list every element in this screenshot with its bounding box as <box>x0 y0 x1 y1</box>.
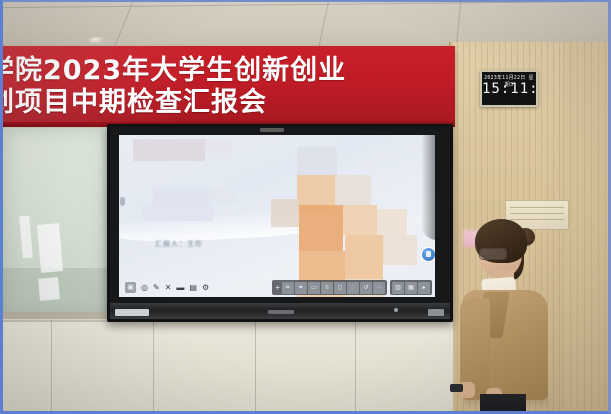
mosaic-block <box>271 199 299 227</box>
classroom-photo: 学院2023年大学生创新创业 划项目中期检查汇报会 汇报人：王珍 ▣ ◎ ✎ ✕… <box>0 0 611 414</box>
mosaic-block <box>153 187 209 205</box>
close-icon[interactable]: ✕ <box>165 284 172 292</box>
bezel-label <box>115 309 149 316</box>
power-led-icon <box>394 308 398 312</box>
screen-glare-corner <box>421 135 435 240</box>
mosaic-block <box>345 235 383 279</box>
bezel-right-label <box>428 309 444 316</box>
brush-icon[interactable]: ✏ <box>282 282 294 294</box>
banner-line-2: 划项目中期检查汇报会 <box>0 80 267 119</box>
skirt <box>480 394 526 414</box>
undo-icon[interactable]: ↺ <box>360 282 372 294</box>
slide-toolbar-right[interactable]: + ✏ ✒ ▭ ≡ ◻ ◌ ↺ ⋯ ▥ ▦ ▸ <box>272 280 432 295</box>
mosaic-block <box>299 205 343 251</box>
mosaic-block <box>143 205 213 221</box>
eraser-icon[interactable]: ▬ <box>176 284 184 292</box>
select-icon[interactable]: ◌ <box>347 282 359 294</box>
more-icon[interactable]: ▸ <box>418 282 430 294</box>
ceiling-seam <box>3 1 608 8</box>
ceiling-seam <box>318 2 329 48</box>
slide-toolbar-left[interactable]: ▣ ◎ ✎ ✕ ▬ ▤ ⚙ <box>122 281 212 294</box>
smartboard-top-label <box>260 128 284 132</box>
tile-seam <box>255 320 256 414</box>
ceiling-seam <box>114 2 134 48</box>
record-icon[interactable]: ◎ <box>141 284 148 292</box>
settings-icon[interactable]: ⚙ <box>202 284 209 292</box>
glasses-icon <box>479 248 507 260</box>
mosaic-block <box>383 235 417 265</box>
screenshot-icon[interactable]: ▣ <box>125 282 136 293</box>
toolbar-group-tools[interactable]: + ✏ ✒ ▭ ≡ ◻ ◌ ↺ ⋯ <box>272 280 387 295</box>
tile-seam <box>51 320 52 414</box>
menu-icon[interactable]: ⋯ <box>373 282 385 294</box>
grid-icon[interactable]: ▦ <box>405 282 417 294</box>
add-icon[interactable]: + <box>274 283 281 292</box>
smartboard-bezel <box>110 303 450 319</box>
event-banner: 学院2023年大学生创新创业 划项目中期检查汇报会 <box>0 46 455 124</box>
ceiling-seam <box>456 2 462 46</box>
pen-icon[interactable]: ✒ <box>295 282 307 294</box>
mosaic-block <box>343 205 377 235</box>
lines-icon[interactable]: ≡ <box>321 282 333 294</box>
vent-slat <box>510 207 564 208</box>
window-reflection <box>38 277 60 301</box>
shape-icon[interactable]: ◻ <box>334 282 346 294</box>
whiteboard-panel <box>3 128 112 318</box>
tile-seam <box>355 320 356 414</box>
mosaic-block <box>377 209 407 235</box>
eraser-icon[interactable]: ▭ <box>308 282 320 294</box>
window-reflection <box>19 216 33 259</box>
mosaic-block <box>209 187 237 203</box>
digital-wall-clock: 2023年11月22日 星期3 15:11:54 <box>480 70 538 107</box>
mosaic-block <box>205 139 231 153</box>
smartboard[interactable]: 汇报人：王珍 ▣ ◎ ✎ ✕ ▬ ▤ ⚙ + ✏ ✒ ▭ ≡ <box>107 124 453 322</box>
tiled-wall-lower <box>3 320 453 414</box>
slide-presenter-line: 汇报人：王珍 <box>155 239 203 249</box>
layout-icon[interactable]: ▥ <box>392 282 404 294</box>
tile-seam <box>153 320 154 414</box>
smartboard-screen[interactable]: 汇报人：王珍 ▣ ◎ ✎ ✕ ▬ ▤ ⚙ + ✏ ✒ ▭ ≡ <box>119 135 435 297</box>
ceiling-light <box>89 37 105 44</box>
board-tray <box>3 312 109 319</box>
presenter <box>458 212 578 414</box>
window-reflection <box>37 223 63 273</box>
screen-side-control[interactable] <box>120 197 125 206</box>
remote-control <box>450 384 463 392</box>
mosaic-block <box>299 251 345 281</box>
pen-icon[interactable]: ✎ <box>153 284 160 292</box>
clipboard-icon[interactable]: ▤ <box>189 284 197 292</box>
info-badge-icon[interactable] <box>421 247 435 262</box>
toolbar-group-view[interactable]: ▥ ▦ ▸ <box>390 280 432 295</box>
brand-logo <box>268 310 294 314</box>
mosaic-block <box>335 175 371 205</box>
clock-time: 15:11:54 <box>482 82 536 96</box>
mosaic-block <box>133 139 205 161</box>
